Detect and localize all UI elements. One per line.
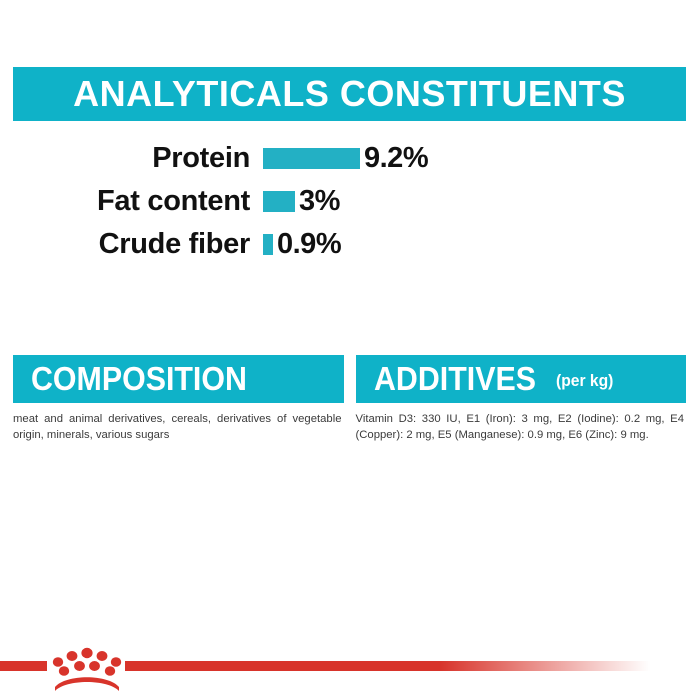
additives-header-band: ADDITIVES (per kg) [356,355,687,403]
additives-body-text: Vitamin D3: 330 IU, E1 (Iron): 3 mg, E2 … [356,412,687,443]
bar-crude-fiber [263,234,273,255]
bar-value-protein: 9.2% [364,140,428,176]
bar-label-crude-fiber: Crude fiber [0,226,250,262]
chart-row: Protein 9.2% [0,140,700,183]
bar-label-fat-content: Fat content [0,183,250,219]
section-composition: COMPOSITION meat and animal derivatives,… [13,355,344,443]
footer-rule-left [0,661,47,671]
composition-header-band: COMPOSITION [13,355,344,403]
footer-brand-bar [0,646,700,700]
bar-group-fat-content: 3% [263,183,340,219]
analyticals-bar-chart: Protein 9.2% Fat content 3% Crude fiber … [0,140,700,269]
bar-value-crude-fiber: 0.9% [277,226,341,262]
analyticals-header-band: ANALYTICALS CONSTITUENTS [13,67,686,121]
bar-group-crude-fiber: 0.9% [263,226,341,262]
bar-group-protein: 9.2% [263,140,428,176]
info-sections: COMPOSITION meat and animal derivatives,… [13,355,686,443]
additives-subtitle: (per kg) [556,371,613,391]
bar-fat-content [263,191,295,212]
bar-value-fat-content: 3% [299,183,340,219]
bar-label-protein: Protein [0,140,250,176]
page-title: ANALYTICALS CONSTITUENTS [13,73,686,115]
composition-title: COMPOSITION [31,360,247,398]
chart-row: Crude fiber 0.9% [0,226,700,269]
footer-rule-right [125,661,650,671]
composition-body-text: meat and animal derivatives, cereals, de… [13,412,344,443]
section-additives: ADDITIVES (per kg) Vitamin D3: 330 IU, E… [356,355,687,443]
royal-canin-crown-icon [48,646,126,692]
additives-title: ADDITIVES [374,360,536,398]
chart-row: Fat content 3% [0,183,700,226]
bar-protein [263,148,360,169]
nutrition-panel: ANALYTICALS CONSTITUENTS Protein 9.2% Fa… [0,0,700,700]
